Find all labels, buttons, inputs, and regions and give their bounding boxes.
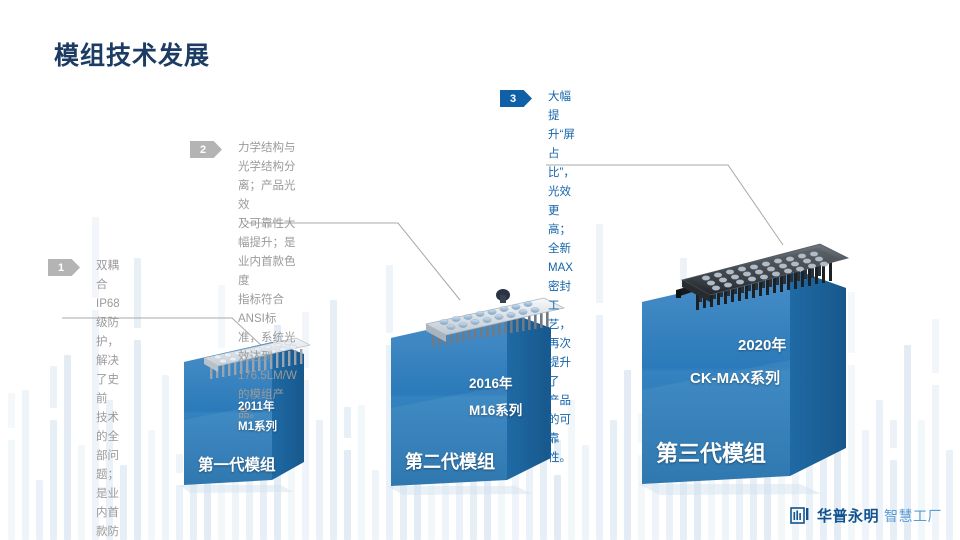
background-bar [8,440,15,540]
background-bar [372,470,379,540]
background-bar [582,445,589,540]
background-bar [8,393,15,428]
background-bar [36,480,43,540]
background-bar [50,366,57,408]
background-bar [344,450,351,540]
background-bar [162,375,169,540]
callout-2-text: 力学结构与光学结构分离；产品光效 及可靠性大幅提升；是业内首款色度 指标符合AN… [238,139,297,424]
background-bar [610,420,617,540]
logo-company-name: 华普永明 [817,505,879,526]
cube-3-series: CK-MAX系列 [690,367,780,388]
background-bar [148,430,155,540]
brand-logo: 华普永明 智慧工厂 [790,505,942,526]
cube-3-year: 2020年 [738,334,786,355]
callout-3-number: 3 [500,90,532,107]
background-bar [890,420,897,448]
callout-3-text: 大幅提升“屏占比”，光效更高； 全新MAX密封工艺，再次提升了 产品的可靠性。 [548,88,575,468]
cube-3-generation: 第三代模组 [656,436,766,468]
cube-2-generation: 第二代模组 [405,448,495,474]
huapu-logo-icon [790,506,812,526]
callout-2-number: 2 [190,141,222,158]
background-bar [50,420,57,540]
background-bar [64,355,71,540]
background-bar [596,224,603,303]
background-bar [22,390,29,540]
cube-1-generation: 第一代模组 [198,453,276,475]
background-bar [134,340,141,540]
background-bar [78,445,85,540]
slide-canvas: 模组技术发展 1 双耦合IP68级防护，解决了史前 技术的全部问题；是业内首款防… [0,0,960,540]
background-bar [134,258,141,328]
background-bar [946,450,953,540]
background-bar [344,407,351,438]
background-bar [120,465,127,540]
background-bar [890,460,897,540]
led-module-ckmax-image [662,228,862,333]
logo-tagline: 智慧工厂 [884,506,942,526]
cube-2-year: 2016年 [469,372,513,392]
background-bar [330,300,337,540]
background-bar [932,319,939,373]
background-bar [596,315,603,540]
page-title: 模组技术发展 [54,36,210,72]
callout-1-text: 双耦合IP68级防护，解决了史前 技术的全部问题；是业内首款防 护等级达到IP6… [96,257,120,540]
background-bar [624,370,631,540]
background-bar [358,405,365,540]
cube-2-series: M16系列 [469,399,522,419]
